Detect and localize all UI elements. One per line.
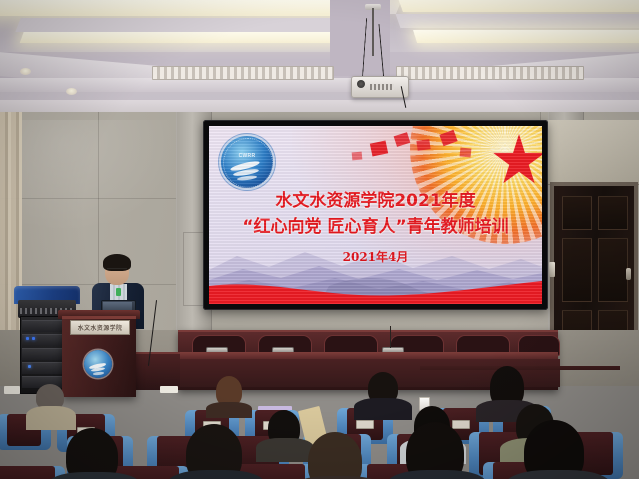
paper-sheet <box>4 386 20 394</box>
attendee-shoulders <box>256 438 314 462</box>
air-vent-left <box>152 66 334 80</box>
audience-area <box>0 366 639 479</box>
podium-nameplate-text: 水文水资源学院 <box>78 323 123 332</box>
logo-abbrev: CWRR <box>221 153 273 159</box>
college-logo: CWRR <box>221 136 273 188</box>
projector-vent <box>370 84 394 90</box>
wall-upper-patch <box>548 120 639 185</box>
air-vent-right <box>396 66 584 80</box>
led-screen[interactable]: CWRR 水文水资源学院2021年度 “红心向党 匠心育人”青年教师培训 202… <box>209 126 542 304</box>
dove-icon <box>416 139 430 151</box>
podium-nameplate: 水文水资源学院 <box>70 320 130 335</box>
status-led <box>26 337 29 340</box>
window-curtain <box>0 112 22 362</box>
glasses-icon <box>107 268 127 274</box>
door-handle[interactable] <box>626 268 631 280</box>
attendee-shoulders <box>26 406 76 430</box>
status-led <box>32 337 35 340</box>
red-wave-graphic <box>209 278 542 304</box>
ceiling <box>0 0 639 112</box>
seat-number-label <box>356 420 374 429</box>
head-table-lip <box>178 352 558 359</box>
projector-lens-icon <box>357 80 365 88</box>
dove-icon <box>460 147 472 157</box>
microphone-stem <box>390 326 391 348</box>
auditorium-photo: CWRR 水文水资源学院2021年度 “红心向党 匠心育人”青年教师培训 202… <box>0 0 639 479</box>
paper-sheet <box>160 386 178 393</box>
door-strike-plate <box>549 262 555 277</box>
speaker-lanyard <box>116 288 121 296</box>
mountain-graphic <box>209 226 542 304</box>
attendee-shoulders <box>206 402 252 418</box>
seat-number-label <box>452 420 470 429</box>
seat[interactable] <box>0 462 62 479</box>
slide-date: 2021年4月 <box>209 248 542 265</box>
slide-title-line1: 水文水资源学院2021年度 <box>209 186 542 211</box>
attendee-shoulders <box>354 398 412 420</box>
dove-icon <box>352 152 363 161</box>
slide-title-line2: “红心向党 匠心育人”青年教师培训 <box>209 212 542 237</box>
projector-pole <box>372 8 374 56</box>
rear-desk <box>420 366 620 370</box>
